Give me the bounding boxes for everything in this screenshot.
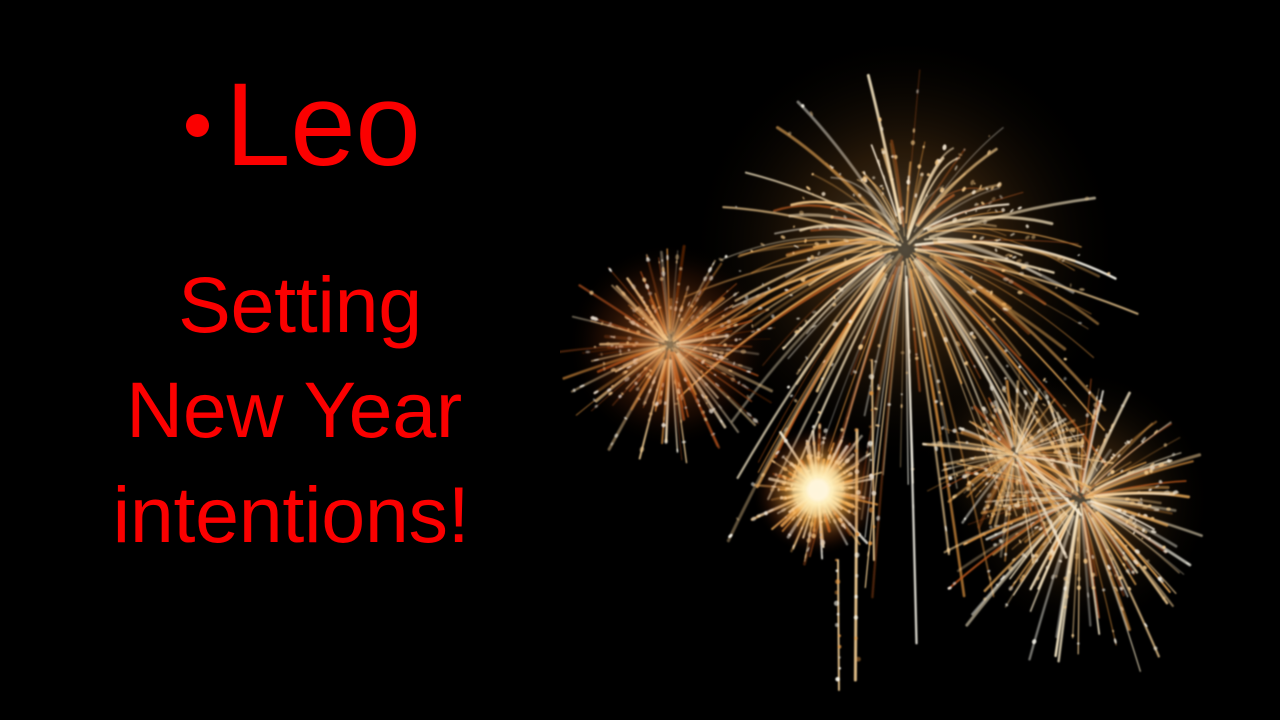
- text-panel: Leo Setting New Year intentions!: [0, 0, 600, 720]
- right-upper-burst-halo: [925, 365, 1106, 546]
- subtitle-line-3: intentions!: [0, 462, 600, 567]
- slide-root: Leo Setting New Year intentions!: [0, 0, 1280, 720]
- subtitle-block: Setting New Year intentions!: [0, 252, 600, 567]
- subtitle-line-2: New Year: [0, 357, 600, 462]
- page-title: Leo: [225, 66, 420, 184]
- small-bright-core-burst-core-glow: [792, 464, 844, 516]
- subtitle-line-1: Setting: [0, 252, 600, 357]
- bullet-point-icon: [186, 114, 209, 137]
- fireworks-photo: [560, 0, 1280, 720]
- fireworks-illustration: [560, 0, 1280, 720]
- title-bullet-line: Leo: [186, 66, 420, 184]
